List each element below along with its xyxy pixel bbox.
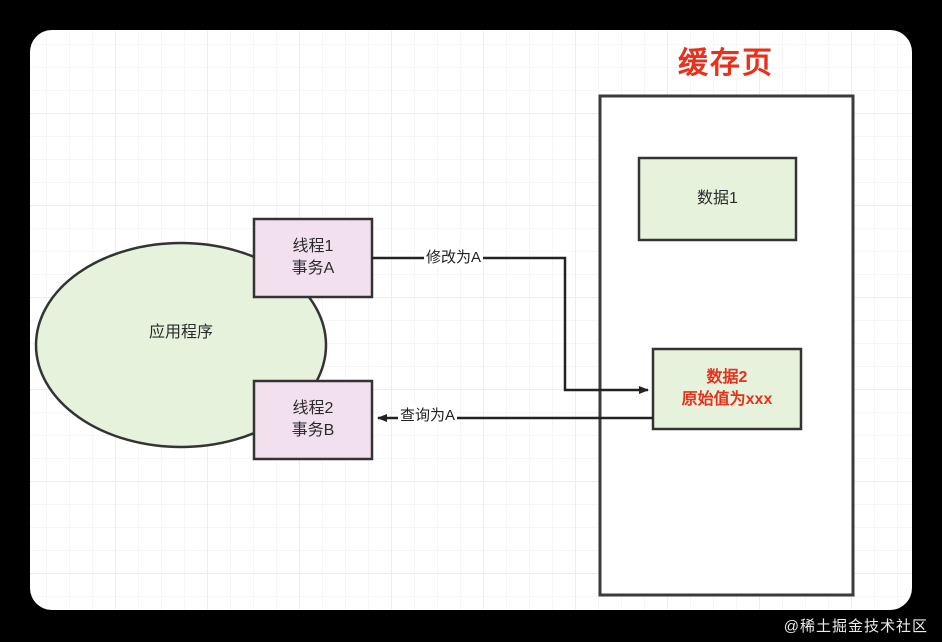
thread2-rect (254, 381, 372, 459)
thread1-rect (254, 219, 372, 297)
data1-rect (639, 158, 796, 240)
cache-page-title: 缓存页 (636, 38, 816, 82)
diagram-shapes-layer (0, 0, 942, 642)
screenshot-stage: 缓存页 应用程序 线程1 事务A 线程2 事务B 数据1 数据2 原始值为xxx… (0, 0, 942, 642)
data2-rect (653, 349, 801, 429)
watermark: @稀土掘金技术社区 (784, 615, 928, 636)
